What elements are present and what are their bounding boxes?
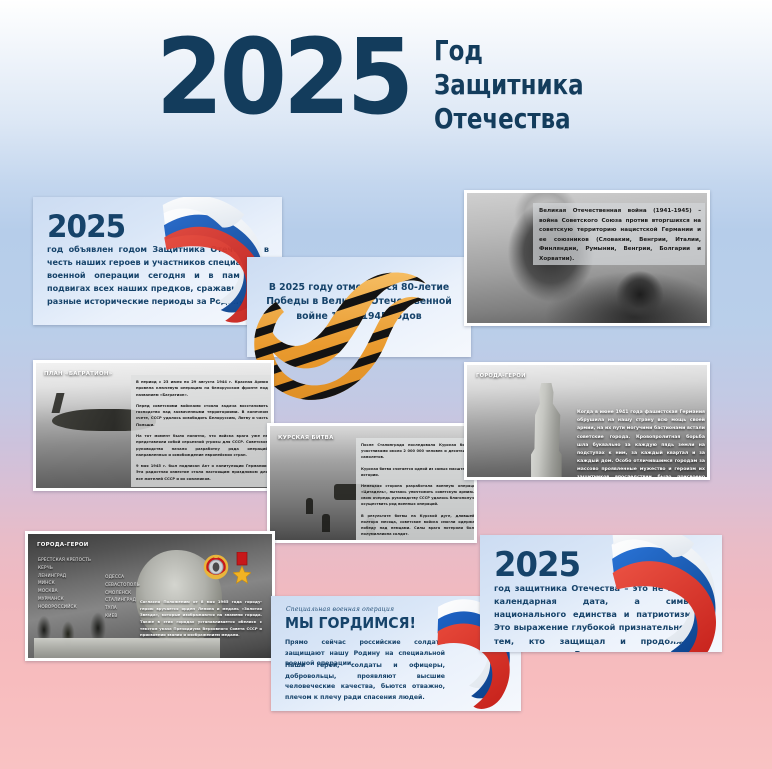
poster-canvas: 2025 Год Защитника Отечества 2025 год об…: [0, 0, 772, 769]
card-plan-bagration: ПЛАН «БАГРАТИОН» В период с 23 июня по 2…: [33, 360, 274, 491]
kursk-para-5: В течение короткого отрезка времени Крас…: [361, 542, 477, 543]
svo-paragraph-2: Наши герои, солдаты и офицеры, доброволь…: [285, 661, 445, 704]
wwii-text: Великая Отечественная война (1941-1945) …: [539, 207, 701, 265]
header-line-2: Защитника: [434, 68, 584, 102]
list-item: КИЕВ: [105, 612, 140, 620]
list-item: СТАЛИНГРАД: [105, 596, 140, 604]
russian-tricolor-ribbon-icon: [608, 535, 722, 652]
list-item: ОДЕССА: [105, 573, 140, 581]
hero-cities-list-text: Согласно Положению от 8 мая 1965 года го…: [140, 599, 262, 639]
list-item: МИНСК: [38, 579, 91, 587]
hero-cities-column-2: ОДЕССА СЕВАСТОПОЛЬ СМОЛЕНСК СТАЛИНГРАД Т…: [105, 573, 140, 620]
list-item: МОСКВА: [38, 587, 91, 595]
card-hero-cities-monument: ГОРОДА-ГЕРОИ Когда в июне 1941 года фаши…: [464, 362, 710, 480]
gold-star-medal-icon: [233, 552, 251, 584]
svo-title: МЫ ГОРДИМСЯ!: [285, 614, 416, 632]
hero-cities-columns: БРЕСТСКАЯ КРЕПОСТЬ КЕРЧЬ ЛЕНИНГРАД МИНСК…: [38, 556, 140, 620]
bagration-para-3: На тот момент было понятно, что войска в…: [136, 433, 268, 458]
list-item: БРЕСТСКАЯ КРЕПОСТЬ: [38, 556, 91, 564]
memorial-vehicles-row: [34, 638, 220, 660]
kursk-para-4: В результате битвы на Курской дуге, длив…: [361, 513, 477, 538]
poster-header: 2025 Год Защитника Отечества: [0, 28, 772, 136]
kursk-para-2: Курская битва считается одной из самых м…: [361, 466, 477, 478]
hero-cities-monument-text: Когда в июне 1941 года фашистская Герман…: [577, 409, 705, 480]
list-item: СЕВАСТОПОЛЬ: [105, 581, 140, 589]
kursk-soldier-shape-2: [322, 514, 330, 532]
hero-cities-column-1: БРЕСТСКАЯ КРЕПОСТЬ КЕРЧЬ ЛЕНИНГРАД МИНСК…: [38, 556, 91, 620]
list-item: ТУЛА: [105, 604, 140, 612]
bagration-para-4: 9 мая 1945 г. был подписан Акт о капитул…: [136, 463, 268, 482]
bagration-text: В период с 23 июня по 29 августа 1944 г.…: [136, 379, 268, 487]
card-closing-2025: 2025 год защитника Отечества – это не пр…: [480, 535, 722, 652]
header-subtitle: Год Защитника Отечества: [434, 34, 584, 136]
header-line-3: Отечества: [434, 102, 584, 136]
svo-script-subtitle: Специальная военная операция: [286, 606, 394, 613]
list-item: МУРМАНСК: [38, 595, 91, 603]
card-kursk-battle: КУРСКАЯ БИТВА После Сталинграда последов…: [267, 423, 477, 543]
list-item: КЕРЧЬ: [38, 564, 91, 572]
kursk-text: После Сталинграда последовала Курская би…: [361, 442, 477, 543]
bagration-label: ПЛАН «БАГРАТИОН»: [44, 371, 112, 377]
bagration-para-2: Перед советскими войсками стояла задача …: [136, 403, 268, 428]
kursk-para-1: После Сталинграда последовала Курская би…: [361, 442, 477, 461]
list-item: НОВОРОССИЙСК: [38, 603, 91, 611]
card-wwii-description: Великая Отечественная война (1941-1945) …: [464, 190, 710, 326]
hero-cities-list-label: ГОРОДА-ГЕРОИ: [37, 542, 89, 548]
order-of-lenin-medal-icon: [203, 553, 229, 583]
kursk-soldier-shape-1: [306, 498, 313, 514]
kursk-para-3: Немецкая сторона разработала военную опе…: [361, 483, 477, 508]
card-hero-cities-list: ГОРОДА-ГЕРОИ БРЕСТСКАЯ КРЕПОСТЬ КЕРЧЬ ЛЕ…: [25, 531, 275, 661]
closing-year: 2025: [494, 545, 580, 585]
hero-cities-monument-label: ГОРОДА-ГЕРОИ: [476, 373, 526, 379]
intro-year: 2025: [47, 209, 125, 245]
kursk-label: КУРСКАЯ БИТВА: [278, 435, 334, 441]
header-year: 2025: [156, 28, 410, 127]
bagration-para-1: В период с 23 июня по 29 августа 1944 г.…: [136, 379, 268, 398]
list-item: ЛЕНИНГРАД: [38, 572, 91, 580]
header-line-1: Год: [434, 34, 584, 68]
list-item: СМОЛЕНСК: [105, 589, 140, 597]
